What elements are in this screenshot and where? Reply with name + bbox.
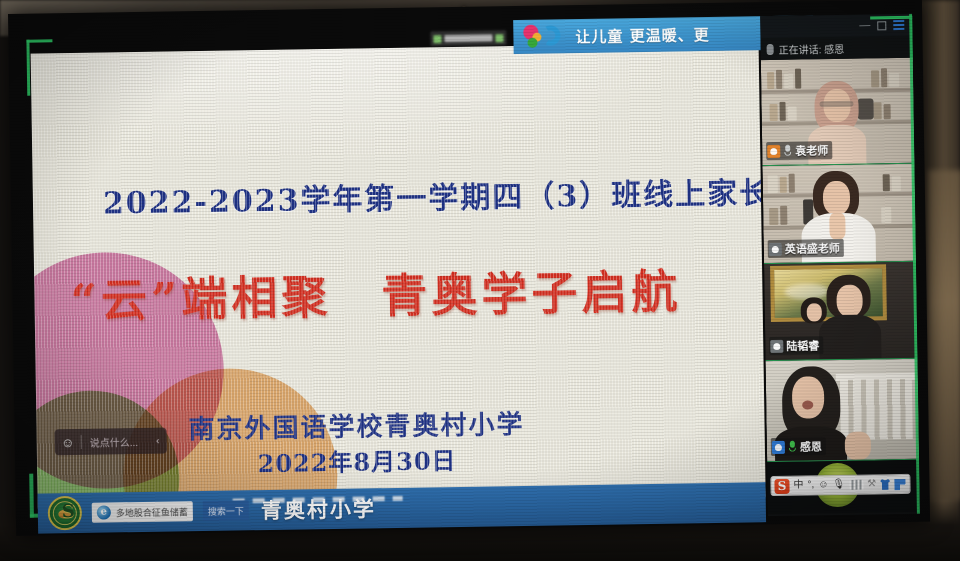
menu-icon[interactable]	[893, 20, 904, 30]
screen-edge-highlight-top	[26, 39, 52, 42]
participant-tile[interactable]: 英语盛老师	[762, 164, 916, 263]
minimize-icon[interactable]: —	[859, 20, 870, 31]
participant-name: 陆韬睿	[786, 337, 819, 354]
mic-active-icon	[788, 441, 797, 453]
ime-toolbar[interactable]: S 中 °, ☺ 🎙 ⚒	[770, 474, 910, 496]
railing	[840, 379, 913, 440]
participant-name: 袁老师	[795, 142, 828, 159]
chevron-left-icon[interactable]: ‹	[149, 435, 167, 446]
browser-search-chip[interactable]: e 多地股合征鱼储蓄	[92, 501, 193, 523]
laptop-screen: 2022-2023学年第一学期四（3）班线上家长 “云”端相聚 青奥学子启航 南…	[8, 0, 930, 536]
screen-edge-highlight-bottom-left	[29, 474, 34, 518]
sogou-logo-icon[interactable]: S	[774, 478, 789, 493]
user-avatar-icon	[769, 242, 782, 255]
participant-tile[interactable]: 袁老师	[761, 58, 915, 165]
presentation-slide: 2022-2023学年第一学期四（3）班线上家长 “云”端相聚 青奥学子启航 南…	[31, 42, 766, 508]
speaking-status-text: 正在讲话: 感恩	[779, 40, 845, 56]
screen-edge-highlight-corner-top	[870, 16, 914, 20]
room-wall-right-highlight	[928, 170, 960, 500]
screenshot-root: 2022-2023学年第一学期四（3）班线上家长 “云”端相聚 青奥学子启航 南…	[0, 0, 960, 561]
participant-name: 感恩	[800, 438, 822, 454]
toolbox-icon[interactable]: ⚒	[867, 479, 876, 489]
participant-name: 英语盛老师	[785, 240, 840, 257]
user-avatar-icon	[767, 144, 780, 157]
comment-input-bar[interactable]: ☺ 说点什么... ‹	[55, 428, 167, 456]
app-grid-icon[interactable]	[894, 478, 905, 489]
mic-muted-icon	[783, 145, 792, 157]
ime-mode-button[interactable]: 中	[793, 481, 803, 491]
user-avatar-icon	[770, 339, 783, 352]
participant-tile[interactable]: 感恩	[766, 359, 920, 461]
participant-tile[interactable]: 陆韬睿	[764, 262, 917, 360]
participant-label: 陆韬睿	[769, 336, 823, 355]
comment-input[interactable]: 说点什么...	[82, 433, 149, 449]
voice-input-icon[interactable]: 🎙	[832, 480, 845, 490]
user-avatar-icon	[772, 440, 785, 453]
participant-tiles: 袁老师	[761, 58, 919, 462]
promo-banner-text: 让儿童 更温暖、更	[575, 23, 710, 46]
browser-chip-text: 多地股合征鱼储蓄	[116, 505, 188, 519]
smiley-icon[interactable]: ☺	[818, 480, 828, 490]
slide-title: 2022-2023学年第一学期四（3）班线上家长	[103, 168, 766, 223]
participant-label: 英语盛老师	[768, 239, 844, 258]
mic-icon	[767, 43, 774, 54]
soft-keyboard-icon[interactable]	[849, 480, 863, 490]
speaking-status-bar: 正在讲话: 感恩	[760, 36, 912, 60]
notification-toast	[430, 30, 506, 46]
skin-shirt-icon[interactable]	[880, 479, 890, 490]
screen-edge-highlight-left	[26, 40, 30, 96]
ime-punctuation-button[interactable]: °,	[807, 480, 814, 490]
video-conference-window[interactable]: — 正在讲话: 感恩	[760, 14, 920, 516]
smiley-icon[interactable]: ☺	[55, 434, 81, 449]
colorful-circles-logo-icon	[523, 23, 567, 50]
participant-label: 感恩	[771, 437, 826, 456]
video-window-titlebar[interactable]: —	[760, 14, 912, 38]
emblem-letter: S	[62, 501, 75, 522]
maximize-icon[interactable]	[877, 21, 886, 30]
participant-label: 袁老师	[766, 141, 832, 160]
video-window-footer: S 中 °, ☺ 🎙 ⚒	[767, 460, 920, 514]
internet-explorer-icon[interactable]: e	[97, 505, 111, 519]
search-button[interactable]: 搜索一下	[203, 500, 249, 521]
slide-headline: “云”端相聚 青奥学子启航	[70, 253, 766, 331]
